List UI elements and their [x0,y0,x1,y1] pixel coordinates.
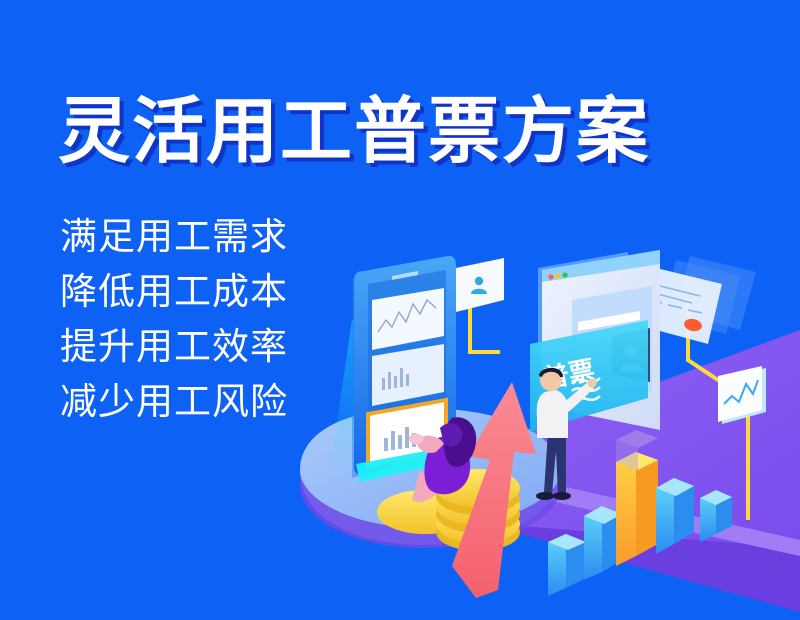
platform-base [300,330,800,612]
smartphone [352,256,456,482]
invoice-card-label: 普票 [540,355,597,394]
phone-card-bar-chart [372,344,444,406]
connector-poles [470,300,748,520]
wave-chart-card [718,366,766,424]
bar-chart-3d [548,430,732,596]
benefit-item-3: 提升用工效率 [60,324,288,370]
poster-canvas: 普票 [0,0,800,620]
benefit-item-1: 满足用工需求 [60,214,288,260]
person-woman [409,417,476,502]
user-avatar-card [456,258,504,312]
phone-glow [330,320,452,470]
invoice-card: 普票 [530,320,648,432]
benefit-item-4: 减少用工风险 [60,379,288,425]
person-man [536,368,597,500]
browser-window [538,250,660,430]
coin-stack [377,469,520,551]
page-title: 灵活用工普票方案 [58,96,650,168]
document-card [634,266,722,344]
benefit-list: 满足用工需求 降低用工成本 提升用工效率 减少用工风险 [60,214,288,425]
benefit-item-2: 降低用工成本 [60,269,288,315]
layered-cards [662,256,756,334]
phone-card-line-chart [372,288,444,350]
phone-card-highlighted [368,400,446,468]
growth-arrow [452,382,536,598]
